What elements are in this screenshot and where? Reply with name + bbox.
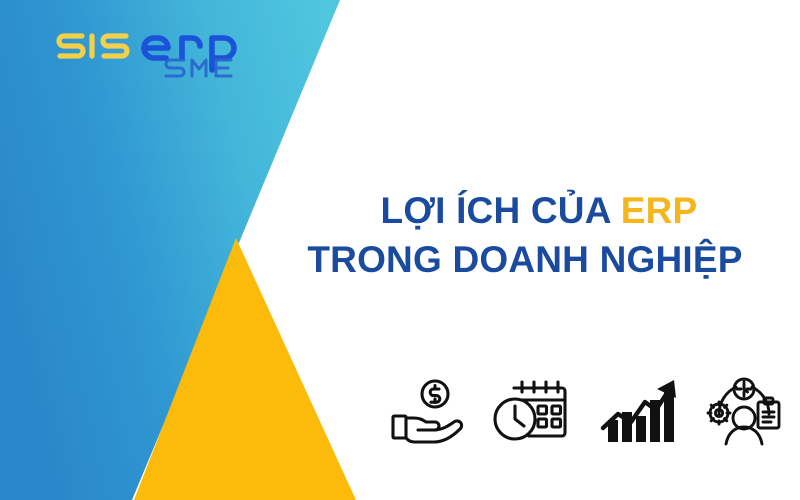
page-title: LỢI ÍCH CỦA ERP TRONG DOANH NGHIỆP <box>260 186 790 284</box>
headline-line-1-main: LỢI ÍCH CỦA <box>381 190 621 231</box>
calendar-clock-icon <box>486 368 578 454</box>
logo-sis-letters <box>59 36 127 56</box>
headline-line-1-accent: ERP <box>621 190 698 231</box>
poster-canvas: LỢI ÍCH CỦA ERP TRONG DOANH NGHIỆP <box>0 0 800 500</box>
headline-line-1: LỢI ÍCH CỦA ERP <box>260 186 790 235</box>
sis-erp-sme-logo-mark <box>56 18 286 80</box>
logo-sme-letters <box>166 60 231 76</box>
logo-erp-letters <box>144 38 234 70</box>
benefit-icon-strip <box>380 366 790 456</box>
brand-logo[interactable] <box>56 18 286 80</box>
growth-chart-icon <box>592 368 684 454</box>
headline-line-2: TRONG DOANH NGHIỆP <box>260 235 790 284</box>
hand-holding-money-icon <box>380 368 472 454</box>
management-person-icon <box>698 368 790 454</box>
